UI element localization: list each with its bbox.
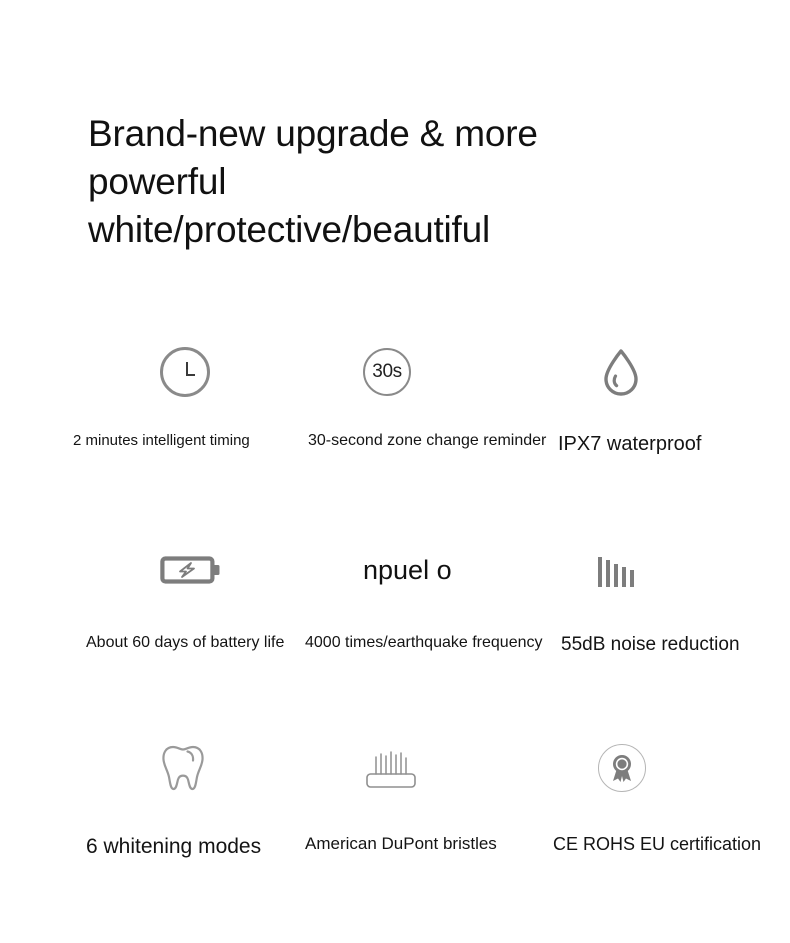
- sound-bar: [606, 560, 610, 587]
- product-feature-page: Brand-new upgrade & more powerful white/…: [0, 0, 790, 943]
- feature-caption: 30-second zone change reminder: [305, 431, 553, 452]
- sound-bar: [622, 567, 626, 587]
- sound-bar: [614, 564, 618, 587]
- icon-container: [553, 533, 790, 607]
- feature-item-zone-change-reminder: 30s 30-second zone change reminder: [305, 335, 553, 452]
- feature-grid: 2 minutes intelligent timing 30s 30-seco…: [60, 335, 790, 921]
- certification-badge-icon: [608, 753, 636, 783]
- icon-container: 30s: [305, 335, 553, 409]
- feature-item-eu-certification: CE ROHS EU certification: [553, 731, 790, 856]
- brush-bristles-icon: [363, 744, 419, 792]
- feature-item-dupont-bristles: American DuPont bristles: [305, 731, 553, 855]
- icon-container: [553, 335, 790, 409]
- icon-container: [553, 731, 790, 805]
- certification-badge-circle: [598, 744, 646, 792]
- icon-container: [68, 335, 305, 409]
- feature-item-intelligent-timing: 2 minutes intelligent timing: [60, 335, 305, 451]
- feature-caption: 55dB noise reduction: [553, 633, 790, 658]
- icon-container: [68, 533, 305, 607]
- feature-item-waterproof: IPX7 waterproof: [553, 335, 790, 457]
- sound-bar: [598, 557, 602, 587]
- feature-caption: 4000 times/earthquake frequency: [305, 633, 553, 654]
- feature-caption: American DuPont bristles: [305, 833, 553, 855]
- feature-caption: 2 minutes intelligent timing: [68, 431, 305, 451]
- feature-item-vibration-frequency: npuel o 4000 times/earthquake frequency: [305, 533, 553, 654]
- feature-row: 6 whitening modes: [60, 731, 790, 921]
- sound-bar: [630, 570, 634, 587]
- page-title: Brand-new upgrade & more powerful white/…: [88, 110, 708, 254]
- battery-charging-icon: [160, 553, 222, 587]
- feature-caption: About 60 days of battery life: [68, 633, 305, 654]
- sound-bars-icon: [598, 553, 634, 587]
- feature-caption: 6 whitening modes: [68, 833, 305, 860]
- tooth-icon: [160, 742, 206, 794]
- water-drop-icon: [598, 345, 644, 399]
- feature-caption: IPX7 waterproof: [553, 431, 790, 457]
- feature-row: 2 minutes intelligent timing 30s 30-seco…: [60, 335, 790, 533]
- icon-container: npuel o: [305, 533, 553, 607]
- feature-item-noise-reduction: 55dB noise reduction: [553, 533, 790, 658]
- feature-row: About 60 days of battery life npuel o 40…: [60, 533, 790, 731]
- feature-item-battery-life: About 60 days of battery life: [60, 533, 305, 654]
- icon-container: [68, 731, 305, 805]
- page-title-line-3: white/protective/beautiful: [88, 206, 708, 254]
- thirty-seconds-circle-icon: 30s: [363, 348, 411, 396]
- clock-circle-icon: [160, 347, 210, 397]
- clock-hand-hour: [186, 374, 195, 376]
- feature-item-whitening-modes: 6 whitening modes: [60, 731, 305, 860]
- text-glyph-icon: npuel o: [363, 557, 452, 584]
- feature-caption: CE ROHS EU certification: [553, 833, 790, 856]
- page-title-line-2: powerful: [88, 158, 708, 206]
- page-title-line-1: Brand-new upgrade & more: [88, 110, 708, 158]
- icon-container: [305, 731, 553, 805]
